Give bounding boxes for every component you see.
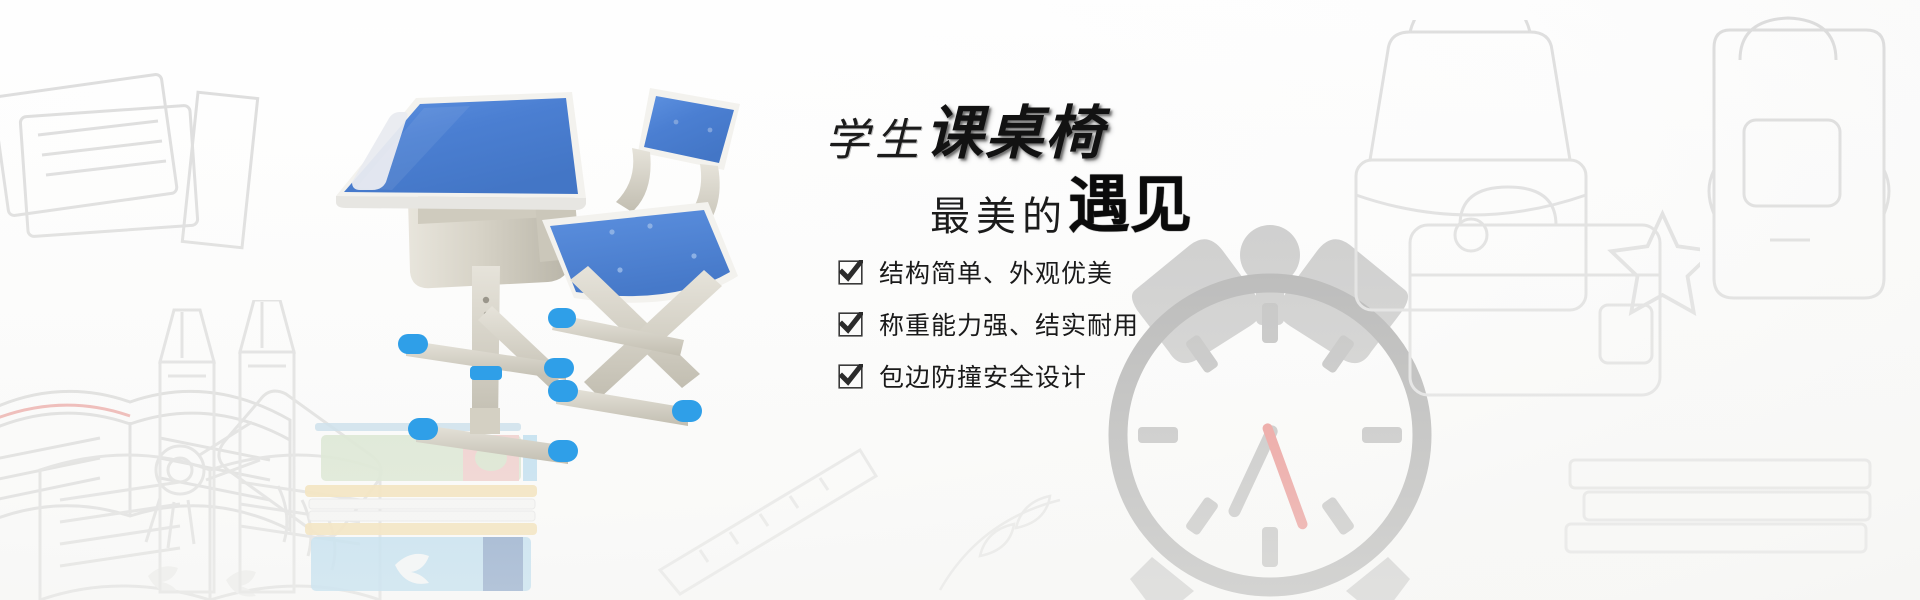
- copy-block: 学生课桌椅 最美的遇见 结构简单、外观优美: [800, 95, 1270, 395]
- backpack-outline-icon: [1700, 0, 1920, 330]
- product-photo: [320, 70, 820, 470]
- checkbox-checked-icon: [838, 260, 863, 285]
- feature-list: 结构简单、外观优美 称重能力强、结实耐用 包: [838, 250, 1139, 406]
- headline-line-2-heavy: 遇见: [1068, 171, 1192, 240]
- notebook-outline-icon: [0, 55, 310, 315]
- feature-item-3: 包边防撞安全设计: [838, 354, 1139, 398]
- plant-outline-icon: [920, 470, 1100, 600]
- feature-item-1-label: 结构简单、外观优美: [879, 254, 1113, 290]
- pencils-outline-icon: [138, 300, 338, 600]
- checkbox-checked-icon: [838, 364, 863, 389]
- student-desk: [336, 92, 586, 464]
- headline-line-1: 学生课桌椅: [825, 105, 1105, 163]
- feature-item-3-label: 包边防撞安全设计: [879, 358, 1087, 394]
- books-right-outline-icon: [1560, 430, 1900, 600]
- feature-item-2-label: 称重能力强、结实耐用: [879, 306, 1139, 342]
- checkbox-checked-icon: [838, 312, 863, 337]
- headline-line-2-light: 最美的: [930, 194, 1068, 239]
- headline-line-1-bold: 课桌椅: [925, 101, 1105, 166]
- satchel-outline-icon: [1310, 20, 1650, 350]
- headline-line-2: 最美的遇见: [930, 175, 1192, 237]
- headline-line-1-light: 学生: [825, 116, 925, 165]
- feature-item-2: 称重能力强、结实耐用: [838, 302, 1139, 346]
- feature-item-1: 结构简单、外观优美: [838, 250, 1139, 294]
- satchel-star-outline-icon: [1390, 185, 1700, 485]
- promo-banner: 学生课桌椅 最美的遇见 结构简单、外观优美: [0, 0, 1920, 600]
